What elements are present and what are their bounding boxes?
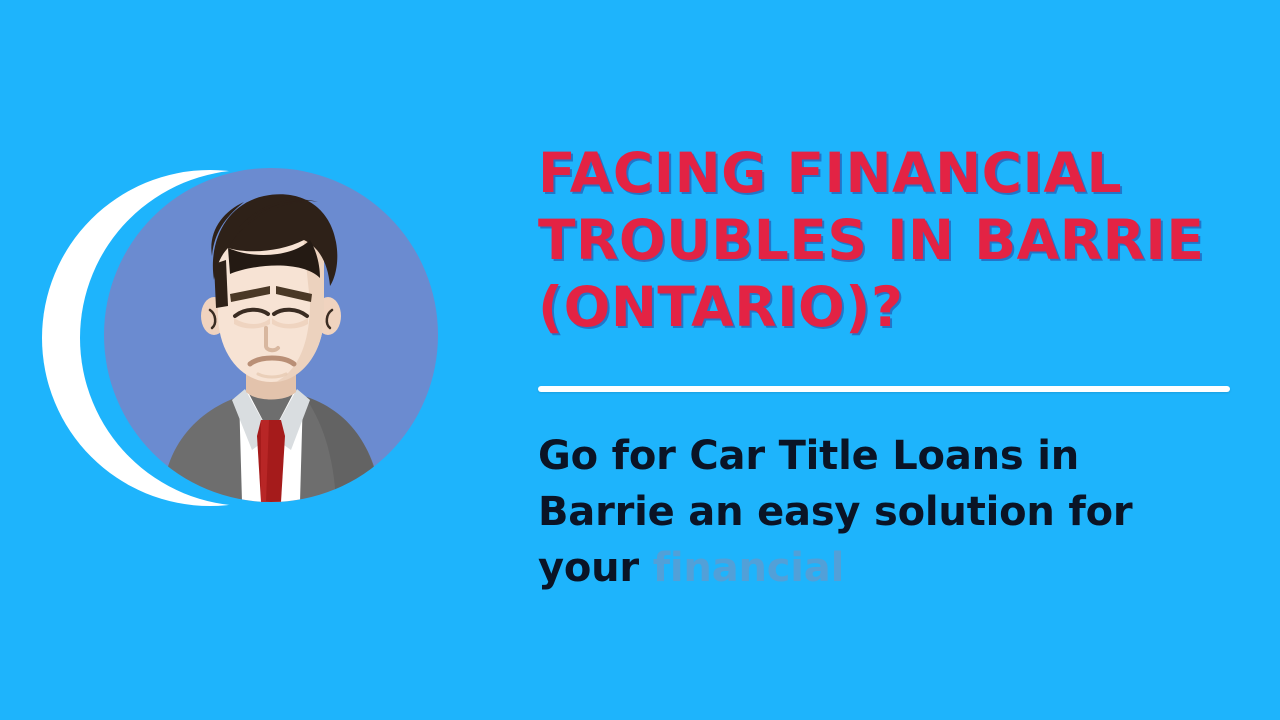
copy-column: FACING FINANCIAL TROUBLES IN BARRIE (ONT… [538, 140, 1238, 596]
subheading: Go for Car Title Loans in Barrie an easy… [538, 392, 1178, 596]
sad-businessman-icon [104, 168, 438, 502]
avatar-disc [104, 168, 438, 502]
page-title: FACING FINANCIAL TROUBLES IN BARRIE (ONT… [538, 140, 1238, 341]
promo-slide: FACING FINANCIAL TROUBLES IN BARRIE (ONT… [0, 0, 1280, 720]
illustration-container [36, 128, 456, 548]
subheading-pending-text: financial [653, 545, 844, 591]
